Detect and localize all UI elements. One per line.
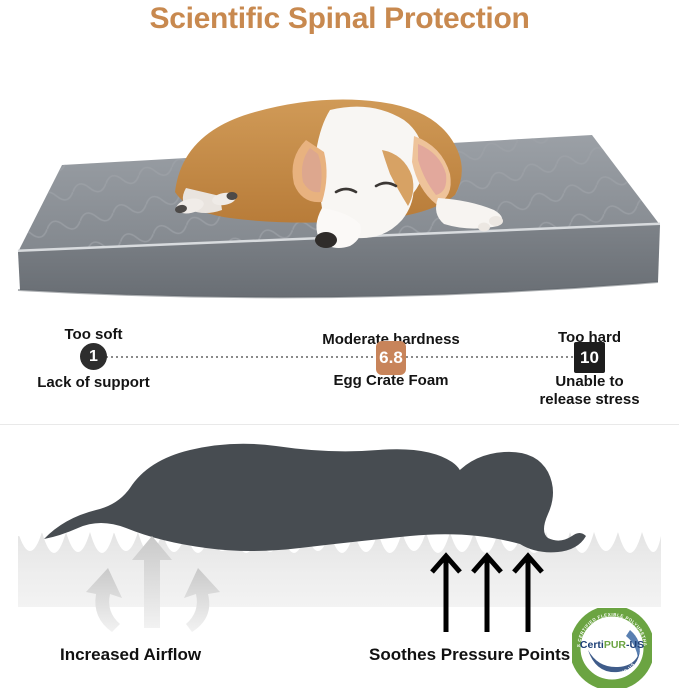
- infographic-page: Scientific Spinal Protection: [0, 0, 679, 691]
- hardness-scale: Too soft 1 Lack of support Moderate hard…: [0, 312, 679, 417]
- hero-product-photo: [0, 40, 679, 300]
- scale-stop-too-soft: Too soft 1 Lack of support: [80, 343, 107, 370]
- certipur-us-badge: CertiPUR-US CONTAINS CERTIFIED FLEXIBLE …: [572, 608, 652, 688]
- scale-stop-bottom-label: Lack of support: [37, 374, 150, 392]
- dog-on-bed-illustration: [0, 40, 679, 300]
- pressure-arrows: [432, 556, 542, 632]
- scale-stop-too-hard: Too hard 10 Unable to release stress: [574, 342, 605, 373]
- certipur-badge-svg: CertiPUR-US CONTAINS CERTIFIED FLEXIBLE …: [572, 608, 652, 688]
- scale-stop-moderate: Moderate hardness 6.8 Egg Crate Foam: [376, 341, 406, 375]
- foam-cross-section-diagram: [0, 432, 679, 632]
- badge-wordmark: CertiPUR-US: [580, 639, 644, 651]
- section-divider: [0, 424, 679, 425]
- page-title: Scientific Spinal Protection: [0, 2, 679, 36]
- foam-diagram-svg: [0, 432, 679, 632]
- scale-stop-top-label: Too soft: [64, 326, 122, 343]
- scale-marker-10: 10: [574, 342, 605, 373]
- scale-dotted-line: [96, 356, 583, 358]
- scale-stop-bottom-label: Unable to release stress: [539, 373, 639, 409]
- scale-marker-6-8: 6.8: [376, 341, 406, 375]
- scale-marker-1: 1: [80, 343, 107, 370]
- airflow-caption: Increased Airflow: [60, 645, 201, 665]
- pressure-caption: Soothes Pressure Points: [369, 645, 570, 665]
